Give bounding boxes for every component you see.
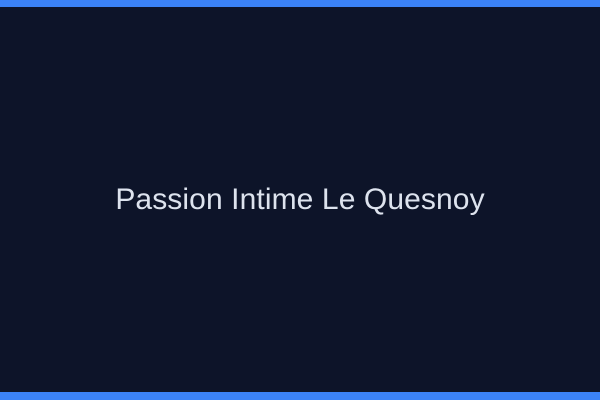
placeholder-banner: Passion Intime Le Quesnoy [0, 0, 600, 400]
top-accent-bar [0, 0, 600, 7]
banner-content-area: Passion Intime Le Quesnoy [0, 7, 600, 392]
bottom-accent-bar [0, 392, 600, 400]
page-title: Passion Intime Le Quesnoy [115, 182, 484, 218]
